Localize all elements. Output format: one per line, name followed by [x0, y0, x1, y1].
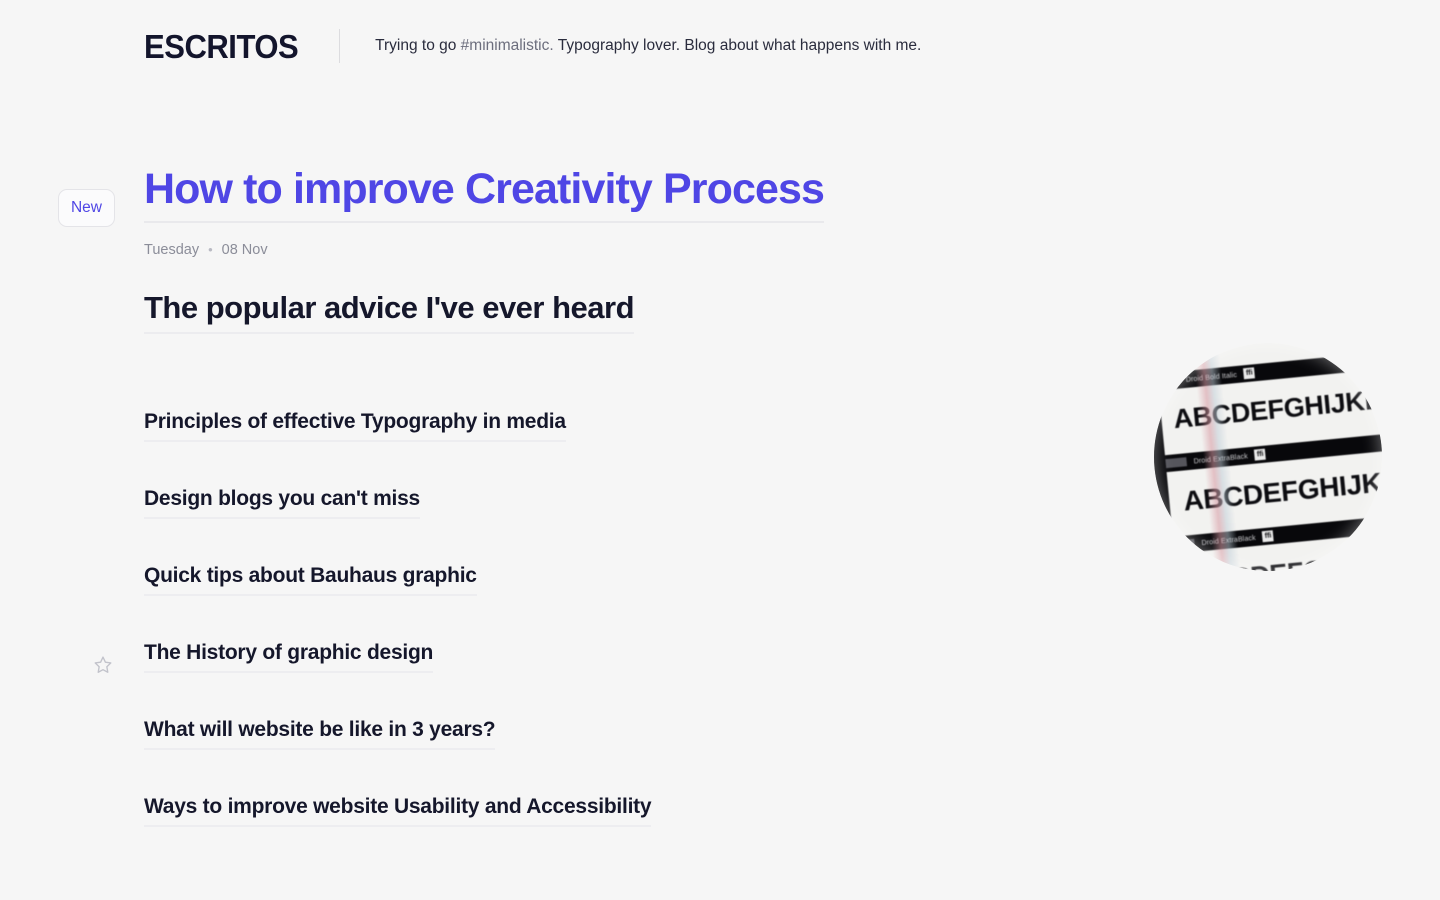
article-list-item: Ways to improve website Usability and Ac… [0, 794, 1440, 871]
header-divider [339, 29, 340, 63]
site-logo[interactable]: ESCRITOS [144, 30, 298, 63]
article-list-item: What will website be like in 3 years? [0, 717, 1440, 794]
article-link[interactable]: What will website be like in 3 years? [144, 717, 495, 750]
site-tagline: Trying to go #minimalistic. Typography l… [375, 35, 921, 57]
article-list-item: The History of graphic design [0, 640, 1440, 717]
article-link[interactable]: Quick tips about Bauhaus graphic [144, 563, 477, 596]
featured-post-title[interactable]: How to improve Creativity Process [144, 165, 824, 223]
badge-rail: New [58, 189, 115, 227]
article-list-item: Quick tips about Bauhaus graphic [0, 563, 1440, 640]
meta-separator-dot: • [208, 243, 213, 256]
tagline-text-after: Typography lover. Blog about what happen… [554, 37, 922, 54]
specimen-ffi-glyph: ffi [1243, 367, 1255, 379]
post-date: 08 Nov [222, 242, 268, 258]
post-weekday: Tuesday [144, 242, 199, 258]
featured-post-meta: Tuesday • 08 Nov [144, 242, 904, 258]
tagline-hashtag[interactable]: #minimalistic. [461, 37, 554, 54]
article-list-item: Design blogs you can't miss [0, 486, 1440, 563]
article-link[interactable]: Design blogs you can't miss [144, 486, 420, 519]
article-list: Principles of effective Typography in me… [0, 409, 1440, 871]
star-icon[interactable] [91, 653, 115, 677]
article-list-item: Principles of effective Typography in me… [0, 409, 1440, 486]
tagline-text-before: Trying to go [375, 37, 461, 54]
article-link[interactable]: Ways to improve website Usability and Ac… [144, 794, 651, 827]
new-badge[interactable]: New [58, 189, 115, 227]
article-link[interactable]: The History of graphic design [144, 640, 433, 673]
specimen-chip [1156, 376, 1179, 387]
article-link[interactable]: Principles of effective Typography in me… [144, 409, 566, 442]
featured-post-body: How to improve Creativity Process Tuesda… [144, 165, 904, 334]
site-header: ESCRITOS Trying to go #minimalistic. Typ… [0, 0, 1440, 92]
featured-post-subtitle[interactable]: The popular advice I've ever heard [144, 289, 634, 334]
